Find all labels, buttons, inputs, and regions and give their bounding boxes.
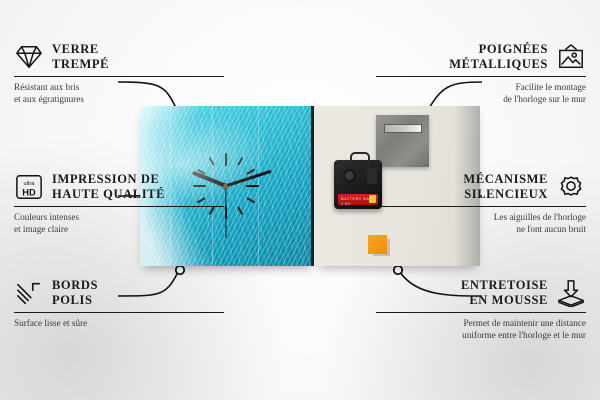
svg-text:ultra: ultra bbox=[24, 181, 36, 187]
feature-title: BORDS POLIS bbox=[52, 278, 98, 308]
clock-minute-hand bbox=[225, 170, 272, 188]
hanger-slot bbox=[384, 124, 422, 133]
clock-second-hand bbox=[225, 186, 226, 238]
battery-plus-terminal bbox=[369, 195, 376, 203]
foam-spacer-icon bbox=[556, 279, 586, 307]
title-rule bbox=[376, 206, 586, 207]
hanging-frame-icon bbox=[556, 43, 586, 71]
diamond-icon bbox=[14, 43, 44, 71]
feature-title: VERRE TREMPÉ bbox=[52, 42, 109, 72]
feature-title: ENTRETOISE EN MOUSSE bbox=[461, 278, 548, 308]
feature-bords-polis: BORDS POLIS Surface lisse et sûre bbox=[14, 278, 224, 329]
feature-title: IMPRESSION DE HAUTE QUALITÉ bbox=[52, 172, 165, 202]
title-rule bbox=[376, 312, 586, 313]
title-rule bbox=[14, 312, 224, 313]
title-rule bbox=[14, 206, 224, 207]
mechanism-hang-loop bbox=[350, 152, 370, 164]
title-rule bbox=[14, 76, 224, 77]
mechanism-shaft bbox=[343, 169, 356, 182]
feature-mecanisme-silencieux: MÉCANISME SILENCIEUX Les aiguilles de l'… bbox=[376, 172, 586, 235]
battery: BATTERY AA 1.5V bbox=[338, 194, 378, 205]
infographic-canvas: BATTERY AA 1.5V VERRE TREMPÉ Résistant a… bbox=[0, 0, 600, 400]
feature-verre-trempe: VERRE TREMPÉ Résistant aux bris et aux é… bbox=[14, 42, 224, 105]
feature-subtitle: Résistant aux bris et aux égratignures bbox=[14, 81, 224, 105]
feature-subtitle: Permet de maintenir une distance uniform… bbox=[376, 317, 586, 341]
polished-edges-icon bbox=[14, 279, 44, 307]
feature-subtitle: Facilite le montage de l'horloge sur le … bbox=[376, 81, 586, 105]
clock-mechanism-box: BATTERY AA 1.5V bbox=[334, 160, 382, 209]
feature-entretoise-en-mousse: ENTRETOISE EN MOUSSE Permet de maintenir… bbox=[376, 278, 586, 341]
feature-subtitle: Les aiguilles de l'horloge ne font aucun… bbox=[376, 211, 586, 235]
metal-hanger-plate bbox=[376, 115, 429, 167]
feature-subtitle: Couleurs intenses et image claire bbox=[14, 211, 224, 235]
feature-title: POIGNÉES MÉTALLIQUES bbox=[449, 42, 548, 72]
feature-subtitle: Surface lisse et sûre bbox=[14, 317, 224, 329]
feature-poignees-metalliques: POIGNÉES MÉTALLIQUES Facilite le montage… bbox=[376, 42, 586, 105]
gear-icon bbox=[556, 173, 586, 201]
feature-title: MÉCANISME SILENCIEUX bbox=[463, 172, 548, 202]
ultra-hd-badge-icon: ultra HD bbox=[14, 173, 44, 201]
feature-impression-haute-qualite: ultra HD IMPRESSION DE HAUTE QUALITÉ Cou… bbox=[14, 172, 224, 235]
title-rule bbox=[376, 76, 586, 77]
foam-spacer bbox=[368, 235, 387, 254]
svg-text:HD: HD bbox=[22, 187, 36, 197]
